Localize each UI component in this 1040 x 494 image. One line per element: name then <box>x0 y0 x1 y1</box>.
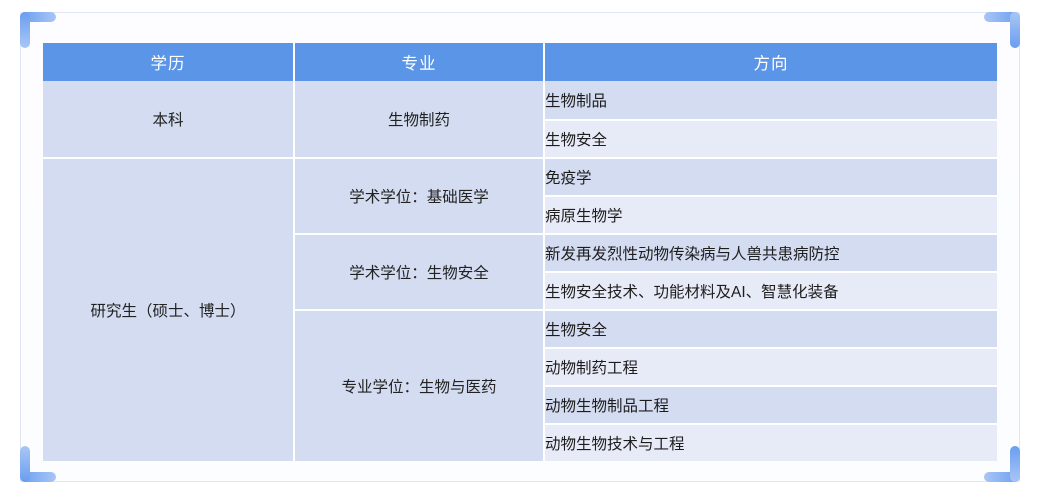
cell-direction: 生物安全 <box>545 309 997 347</box>
decorated-frame: 学历 专业 方向 本科 生物制药 生物制品 生物安全 研究生（硕士、博士） <box>0 0 1040 494</box>
majors-table: 学历 专业 方向 本科 生物制药 生物制品 生物安全 研究生（硕士、博士） <box>43 43 997 461</box>
column-header-education: 学历 <box>43 43 295 81</box>
cell-direction: 免疫学 <box>545 157 997 195</box>
column-header-direction: 方向 <box>545 43 997 81</box>
cell-education: 本科 <box>43 81 295 157</box>
table-body: 本科 生物制药 生物制品 生物安全 研究生（硕士、博士） 学术学位：基础医学 免… <box>43 81 997 461</box>
cell-major: 专业学位：生物与医药 <box>295 309 545 461</box>
cell-direction: 动物制药工程 <box>545 347 997 385</box>
cell-direction: 动物生物技术与工程 <box>545 423 997 461</box>
table-header: 学历 专业 方向 <box>43 43 997 81</box>
cell-direction: 动物生物制品工程 <box>545 385 997 423</box>
table-header-row: 学历 专业 方向 <box>43 43 997 81</box>
cell-direction: 新发再发烈性动物传染病与人兽共患病防控 <box>545 233 997 271</box>
column-header-major: 专业 <box>295 43 545 81</box>
cell-direction: 生物安全 <box>545 119 997 157</box>
cell-major: 学术学位：基础医学 <box>295 157 545 233</box>
cell-major: 学术学位：生物安全 <box>295 233 545 309</box>
cell-direction: 病原生物学 <box>545 195 997 233</box>
cell-education: 研究生（硕士、博士） <box>43 157 295 461</box>
cell-direction: 生物制品 <box>545 81 997 119</box>
cell-direction: 生物安全技术、功能材料及AI、智慧化装备 <box>545 271 997 309</box>
table-row: 研究生（硕士、博士） 学术学位：基础医学 免疫学 <box>43 157 997 195</box>
table-row: 本科 生物制药 生物制品 <box>43 81 997 119</box>
cell-major: 生物制药 <box>295 81 545 157</box>
majors-table-container: 学历 专业 方向 本科 生物制药 生物制品 生物安全 研究生（硕士、博士） <box>43 43 997 457</box>
